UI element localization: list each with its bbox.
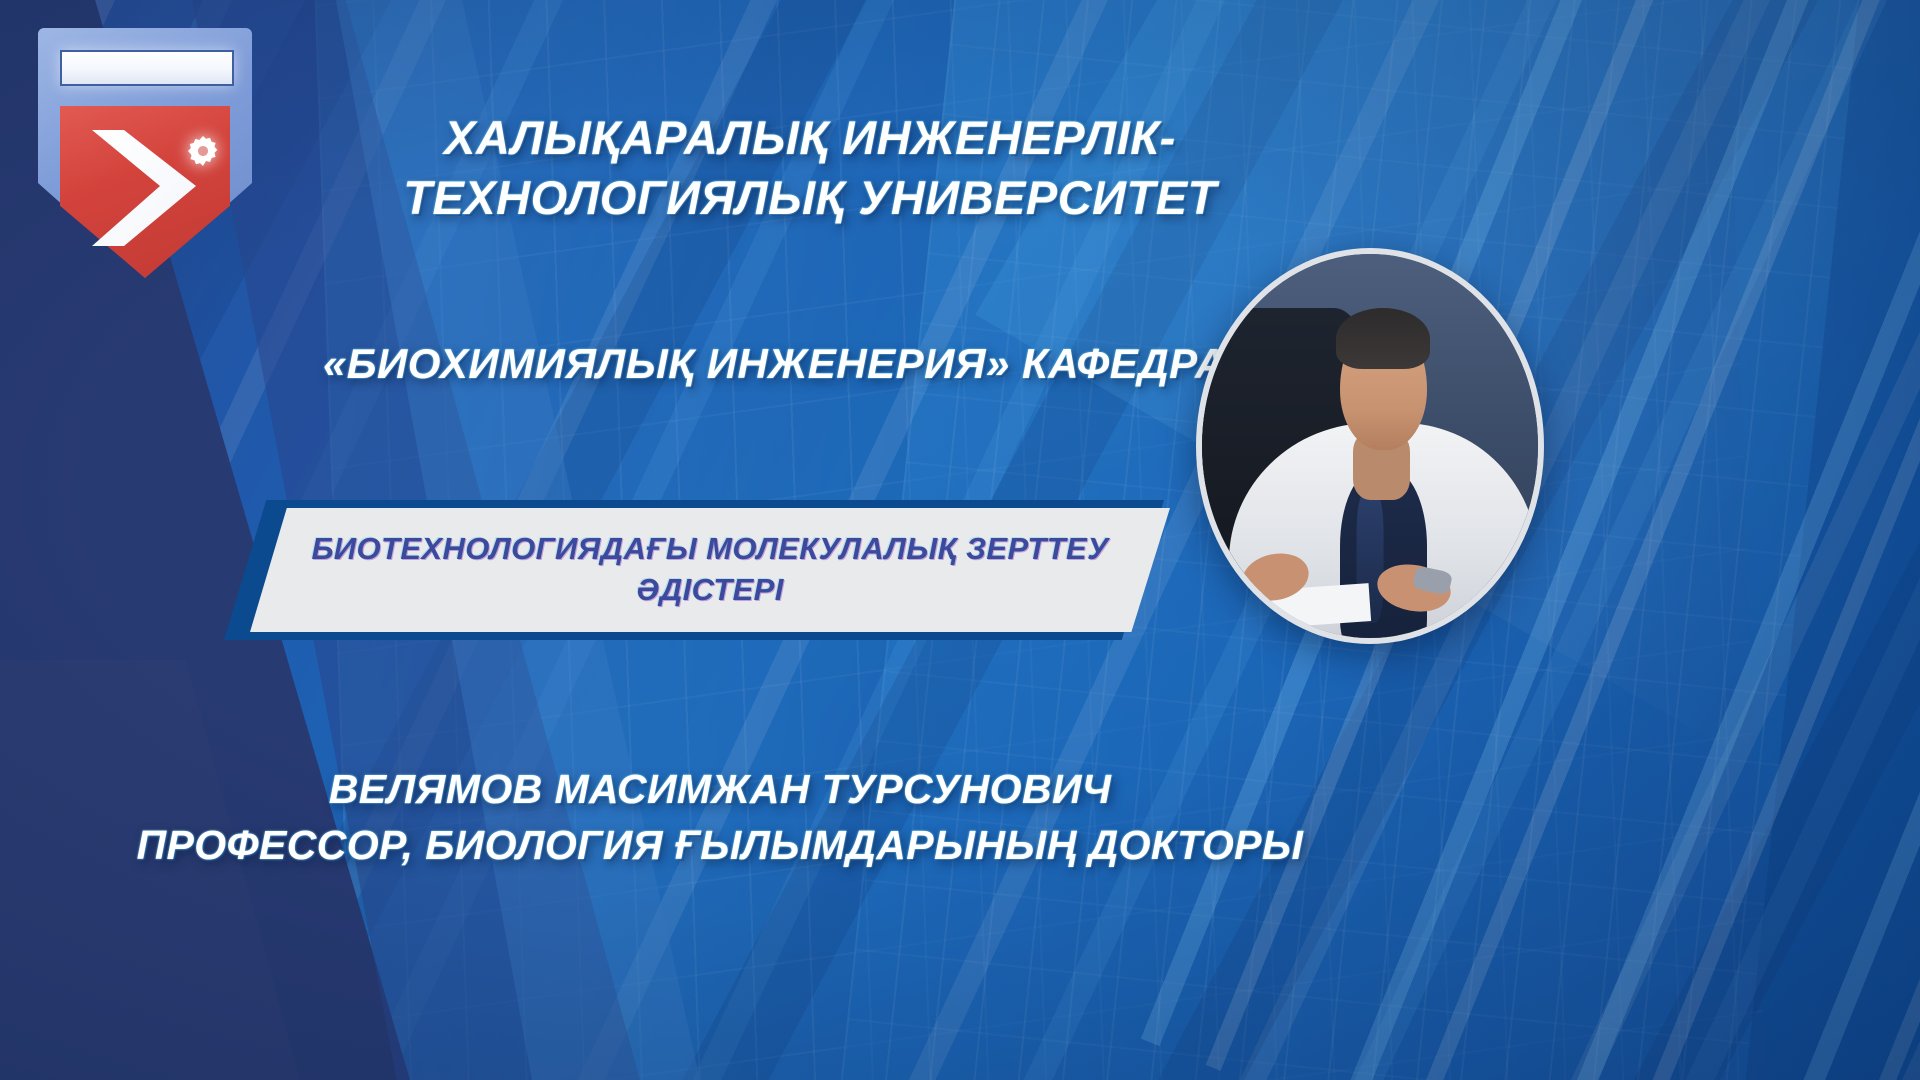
department-title: «БИОХИМИЯЛЫҚ ИНЖЕНЕРИЯ» КАФЕДРАСЫ <box>280 340 1340 388</box>
presenter-block: ВЕЛЯМОВ МАСИМЖАН ТУРСУНОВИЧ ПРОФЕССОР, Б… <box>120 762 1320 874</box>
presentation-title-slide: ХАЛЫҚАРАЛЫҚ ИНЖЕНЕРЛІК-ТЕХНОЛОГИЯЛЫҚ УНИ… <box>0 0 1920 1080</box>
shield-top-bar <box>60 50 234 86</box>
chevron-right-icon <box>90 126 198 250</box>
university-shield-logo <box>38 28 252 278</box>
portrait-hair <box>1336 308 1430 369</box>
gear-icon <box>188 136 218 166</box>
presenter-portrait <box>1196 248 1544 644</box>
topic-banner: БИОТЕХНОЛОГИЯДАҒЫ МОЛЕКУЛАЛЫҚ ЗЕРТТЕУ ӘД… <box>250 508 1170 632</box>
topic-banner-label: БИОТЕХНОЛОГИЯДАҒЫ МОЛЕКУЛАЛЫҚ ЗЕРТТЕУ ӘД… <box>310 529 1110 611</box>
page-title: ХАЛЫҚАРАЛЫҚ ИНЖЕНЕРЛІК-ТЕХНОЛОГИЯЛЫҚ УНИ… <box>300 108 1320 228</box>
presenter-title: ПРОФЕССОР, БИОЛОГИЯ ҒЫЛЫМДАРЫНЫҢ ДОКТОРЫ <box>120 818 1320 874</box>
portrait-scene <box>1202 254 1538 638</box>
presenter-name: ВЕЛЯМОВ МАСИМЖАН ТУРСУНОВИЧ <box>120 762 1320 818</box>
